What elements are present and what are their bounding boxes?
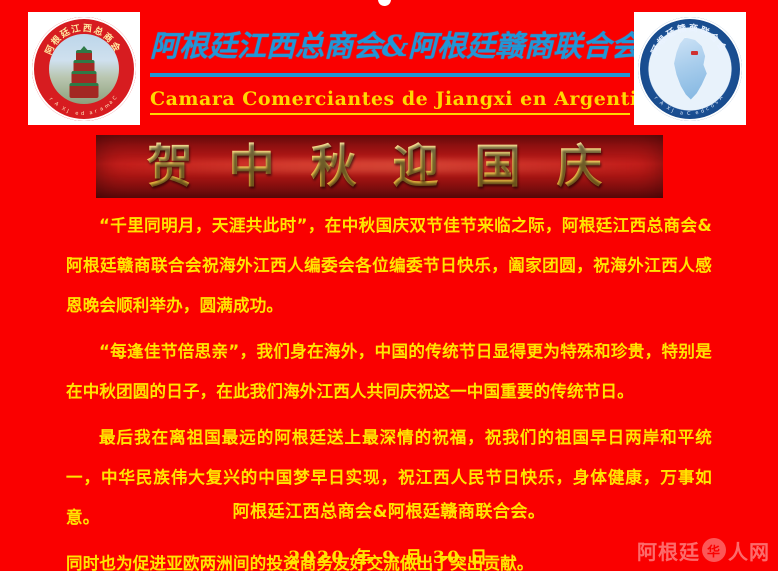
festival-banner: 贺 中 秋 迎 国 庆 — [96, 135, 663, 198]
right-logo-box: 阿 根 廷 赣 商 联 合 会 A s o c d e C a J X A r — [634, 12, 746, 125]
title-underline — [150, 73, 630, 77]
paragraph-1: “千里同明月，天涯共此时”，在中秋国庆双节佳节来临之际，阿根廷江西总商会&阿根廷… — [66, 206, 712, 326]
banner-title: 贺 中 秋 迎 国 庆 — [96, 135, 663, 198]
chamber-seal-icon: 阿 根 廷 江 西 总 商 会 C a m a r a d e J X A r — [32, 17, 136, 121]
paragraph-2: “每逢佳节倍思亲”，我们身在海外，中国的传统节日显得更为特殊和珍贵，特别是在中秋… — [66, 332, 712, 412]
poster-header: 阿 根 廷 江 西 总 商 会 C a m a r a d e J X A r — [0, 12, 778, 130]
header-title-block: 阿根廷江西总商会&阿根廷赣商联合会 Camara Comerciantes de… — [150, 12, 630, 130]
pagoda-photo — [49, 34, 119, 104]
signature-line: 阿根廷江西总商会&阿根廷赣商联合会。 — [0, 497, 778, 522]
date-line: 2020 年 9 月 30 日 — [0, 543, 778, 568]
pagoda-icon — [69, 50, 99, 100]
union-seal-icon: 阿 根 廷 赣 商 联 合 会 A s o c d e C a J X A r — [638, 17, 742, 121]
organization-name-cn: 阿根廷江西总商会&阿根廷赣商联合会 — [150, 28, 630, 64]
organization-name-es: Camara Comerciantes de Jiangxi en Argent… — [150, 88, 630, 115]
jiangxi-map-icon — [669, 38, 711, 100]
left-logo-box: 阿 根 廷 江 西 总 商 会 C a m a r a d e J X A r — [28, 12, 140, 125]
greeting-poster: 阿 根 廷 江 西 总 商 会 C a m a r a d e J X A r — [0, 0, 778, 571]
top-edge-artifact — [378, 0, 391, 6]
